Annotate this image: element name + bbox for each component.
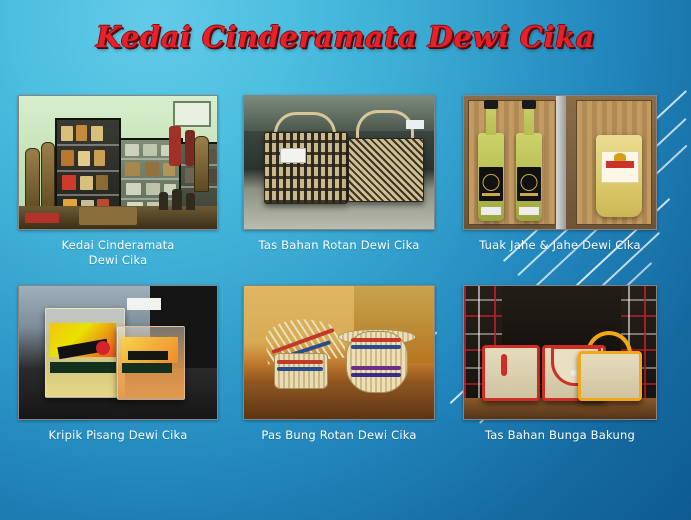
product-caption: Tuak Jahe & Jahe Dewi Cika	[463, 238, 657, 253]
product-caption: Pas Bung Rotan Dewi Cika	[243, 428, 435, 443]
product-gallery-grid: Kedai Cinderamata Dewi Cika Tas Bahan Ro…	[0, 0, 691, 520]
product-caption: Tas Bahan Bunga Bakung	[463, 428, 657, 443]
presentation-slide: Kedai Cinderamata Dewi Cika	[0, 0, 691, 520]
product-card-kripik-pisang[interactable]: Kripik Pisang Dewi Cika	[18, 285, 218, 443]
product-photo-rattan-bags[interactable]	[243, 95, 435, 230]
product-card-tas-bahan-rotan[interactable]: Tas Bahan Rotan Dewi Cika	[243, 95, 435, 253]
product-card-tuak-jahe[interactable]: Tuak Jahe & Jahe Dewi Cika	[463, 95, 657, 253]
product-photo-shop-interior[interactable]	[18, 95, 218, 230]
product-card-tas-bunga-bakung[interactable]: Tas Bahan Bunga Bakung	[463, 285, 657, 443]
product-card-kedai-cinderamata[interactable]: Kedai Cinderamata Dewi Cika	[18, 95, 218, 268]
product-caption: Kedai Cinderamata Dewi Cika	[18, 238, 218, 268]
product-photo-lily-bags[interactable]	[463, 285, 657, 420]
product-photo-rattan-vases[interactable]	[243, 285, 435, 420]
product-caption: Kripik Pisang Dewi Cika	[18, 428, 218, 443]
product-card-pas-bung-rotan[interactable]: Pas Bung Rotan Dewi Cika	[243, 285, 435, 443]
product-photo-ginger-wine[interactable]	[463, 95, 657, 230]
product-caption: Tas Bahan Rotan Dewi Cika	[243, 238, 435, 253]
product-photo-banana-chips[interactable]	[18, 285, 218, 420]
